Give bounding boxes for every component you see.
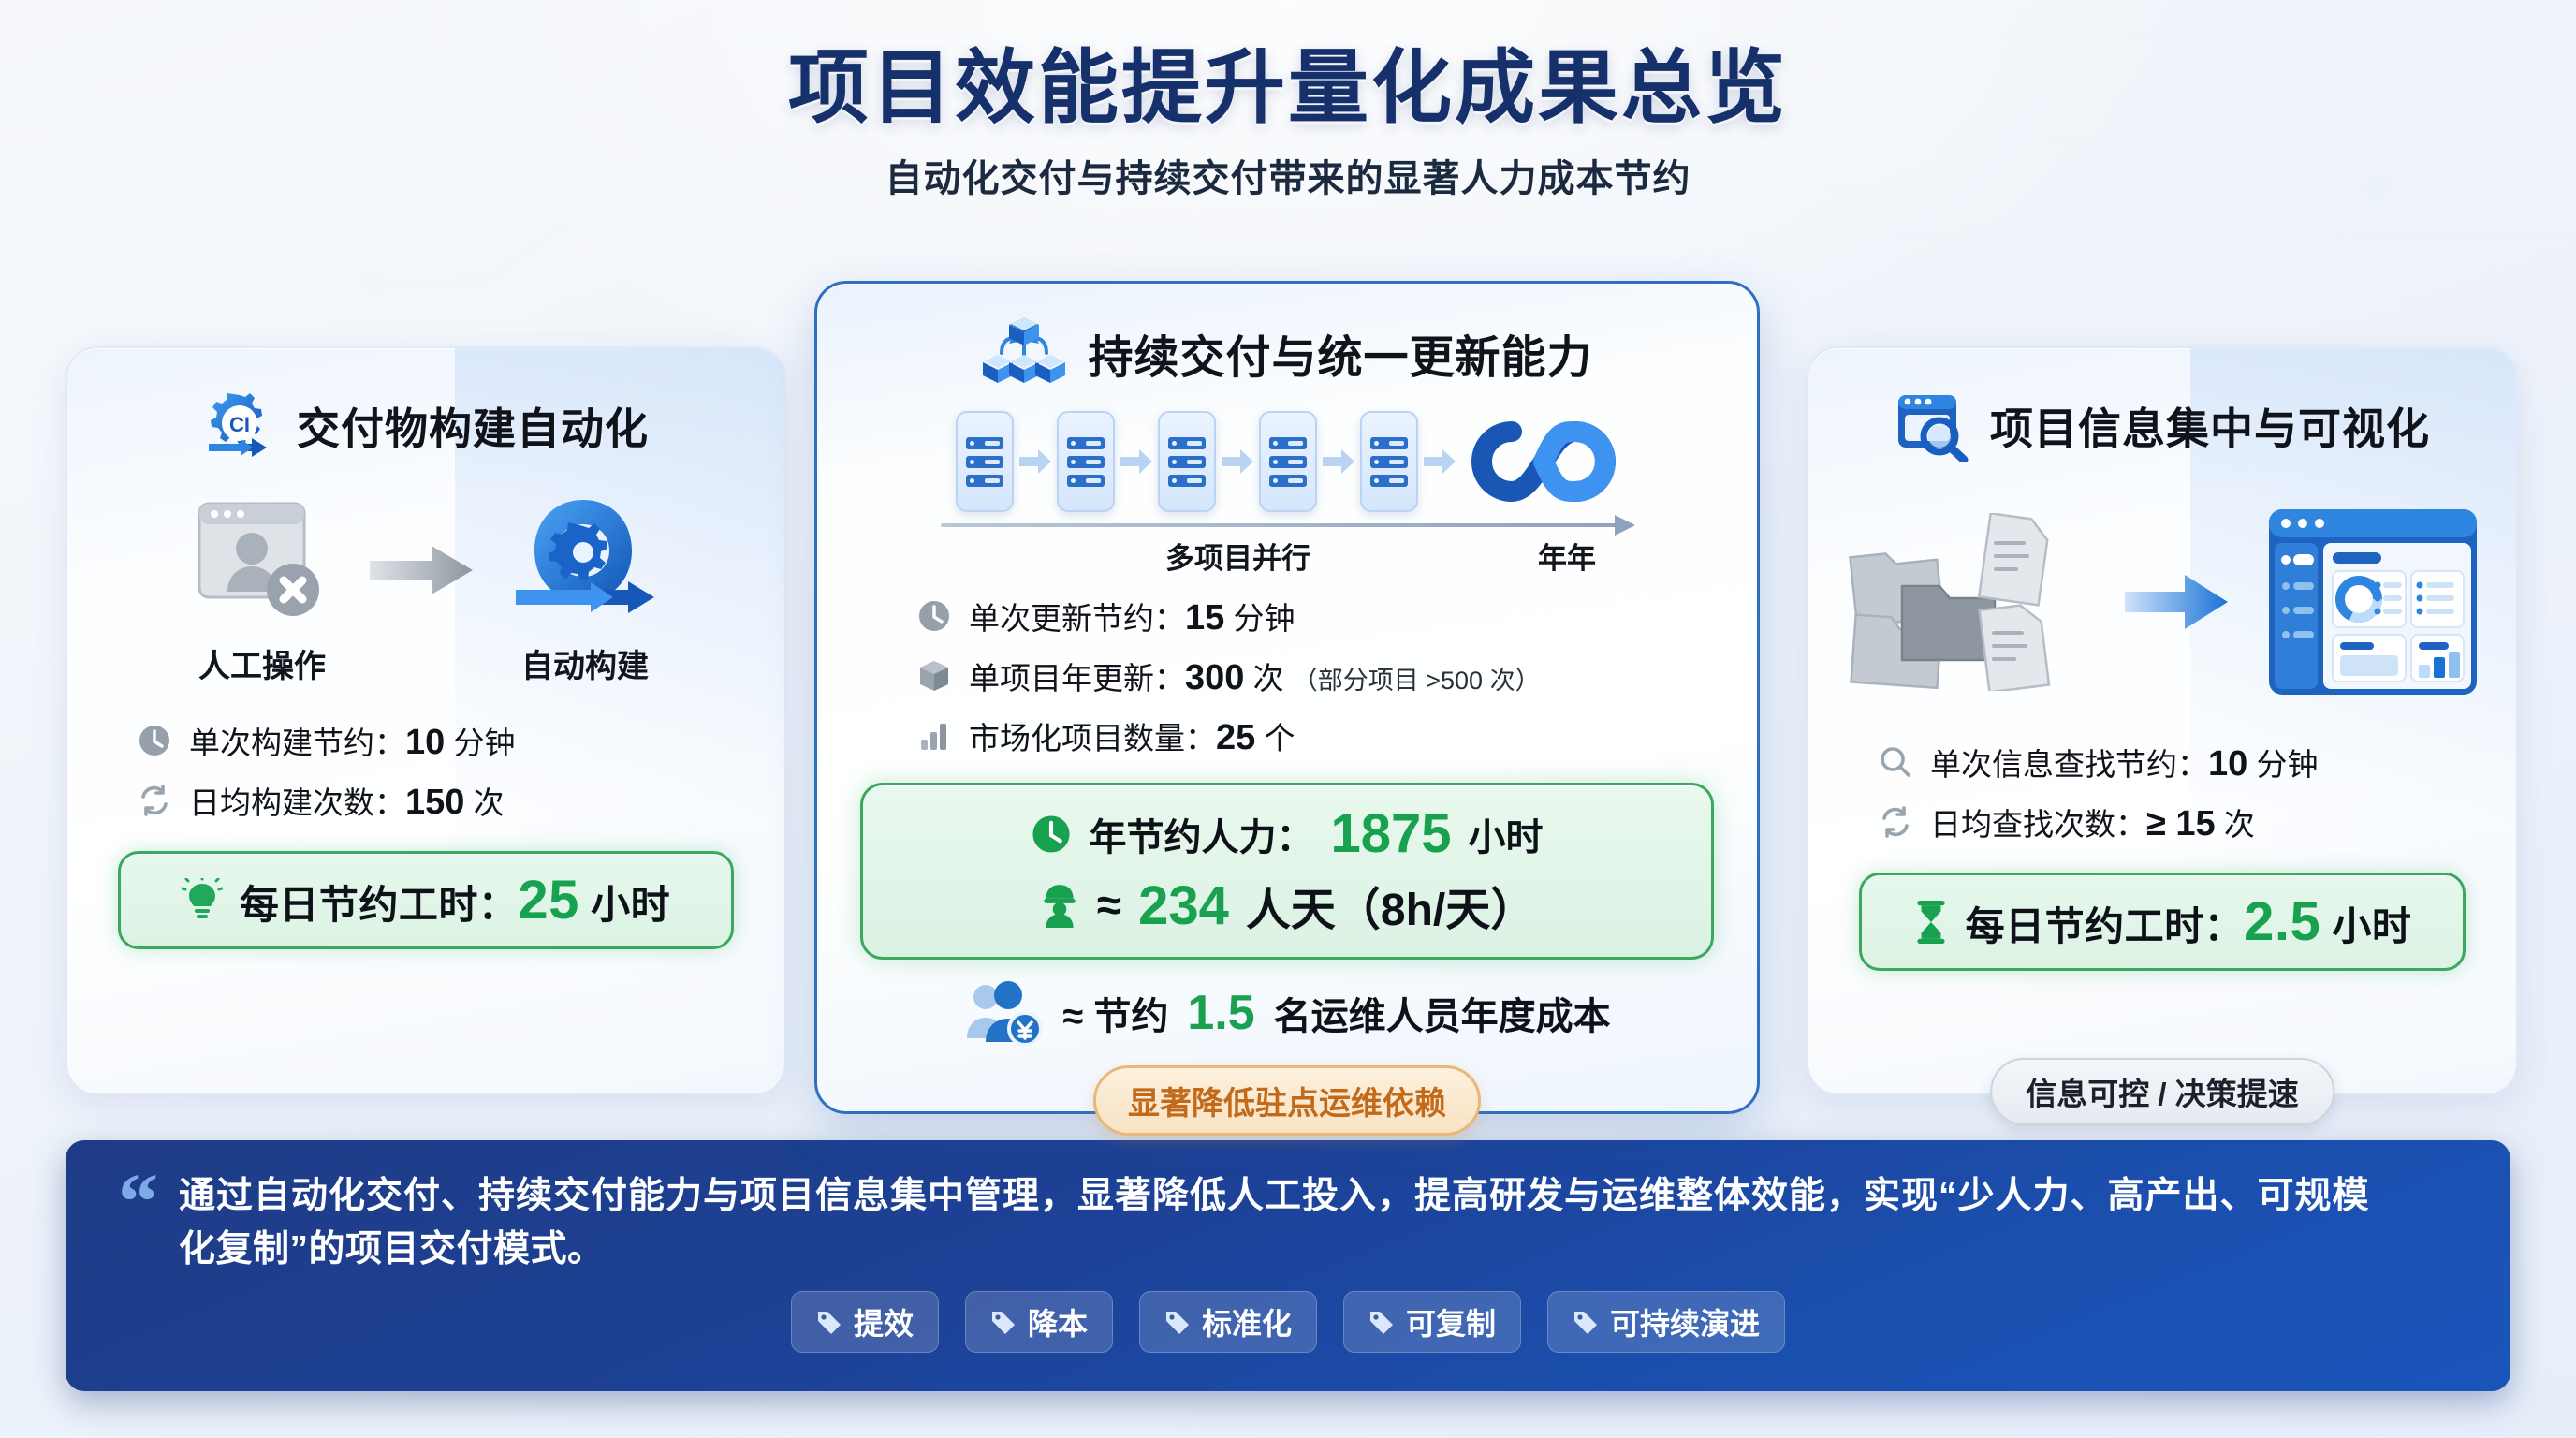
highlight-line-hours: 年节约人力： 1875 小时: [1031, 802, 1543, 865]
metric-text: 单项目年更新：300 次 （部分项目 >500 次）: [969, 653, 1541, 698]
card-right-metrics: 单次信息查找节约：10 分钟 日均查找次数：≥ 15 次: [1808, 740, 2516, 859]
card-left-title: 交付物构建自动化: [297, 395, 649, 457]
tag-label: 可复制: [1406, 1300, 1496, 1343]
page-header: 项目效能提升量化成果总览 自动化交付与持续交付带来的显著人力成本节约: [0, 0, 2576, 202]
card-build-automation[interactable]: CI 交付物构建自动化: [66, 346, 786, 1095]
people-prefix: ≈ 节约: [1062, 986, 1168, 1040]
metric-note: （部分项目 >500 次）: [1293, 667, 1541, 695]
card-right-header: 项目信息集中与可视化: [1895, 389, 2430, 462]
quote-text: 通过自动化交付、持续交付能力与项目信息集中管理，显著降低人工投入，提高研发与运维…: [179, 1170, 2369, 1276]
pipeline-visual: [956, 411, 1618, 512]
card-center-people-line: ≈ 节约 1.5 名运维人员年度成本: [963, 980, 1610, 1046]
card-continuous-delivery[interactable]: 持续交付与统一更新能力: [814, 281, 1760, 1114]
metric-row: 日均构建次数：150 次: [137, 778, 715, 823]
hourglass-icon: [1913, 900, 1949, 945]
timeline-label-left: 多项目并行: [1165, 535, 1310, 577]
timeline-labels: 多项目并行 年年: [941, 535, 1633, 577]
manual-operation-label: 人工操作: [198, 640, 326, 686]
server-node: [1158, 411, 1216, 512]
search-icon: [1878, 744, 1913, 780]
tag-label: 标准化: [1202, 1300, 1292, 1343]
metric-text: 日均构建次数：150 次: [189, 778, 505, 823]
metric-text: 市场化项目数量：25 个: [969, 713, 1295, 758]
card-left-metrics: 单次构建节约：10 分钟 日均构建次数：150 次: [67, 718, 784, 838]
blue-arrow-icon: [2125, 569, 2228, 635]
bulb-icon: [182, 878, 223, 923]
card-left-highlight-text: 每日节约工时：25 小时: [240, 869, 670, 932]
scattered-folders-docs-icon: [1844, 513, 2087, 691]
card-right-highlight-text: 每日节约工时：2.5 小时: [1966, 890, 2412, 953]
refresh-icon: [137, 783, 172, 818]
tag-chip[interactable]: 提效: [791, 1291, 939, 1353]
card-right-visual: [1844, 506, 2481, 698]
card-center-header: 持续交付与统一更新能力: [981, 315, 1592, 390]
server-node: [956, 411, 1014, 512]
dashboard-window-icon: [2265, 506, 2481, 698]
card-left-highlight: 每日节约工时：25 小时: [118, 851, 734, 949]
metric-row: 单次构建节约：10 分钟: [137, 718, 715, 763]
package-icon: [916, 658, 952, 694]
grey-arrow-icon: [370, 542, 473, 598]
pipeline-arrow-icon: [1323, 449, 1354, 474]
ci-gear-icon: CI: [203, 389, 276, 462]
auto-build-block: 自动构建: [510, 494, 660, 686]
metric-row: 单次更新节约：15 分钟: [916, 594, 1658, 638]
card-left-visual: 人工操作: [192, 494, 660, 686]
page-title: 项目效能提升量化成果总览: [0, 43, 2576, 133]
worker-icon: [1039, 883, 1080, 928]
people-value: 1.5: [1187, 985, 1254, 1041]
tag-icon: [1368, 1309, 1395, 1335]
metric-row: 日均查找次数：≥ 15 次: [1878, 800, 2447, 844]
tag-chip[interactable]: 降本: [965, 1291, 1113, 1353]
metric-row: 市场化项目数量：25 个: [916, 713, 1658, 758]
server-node: [1360, 411, 1418, 512]
metric-row: 单次信息查找节约：10 分钟: [1878, 740, 2447, 785]
tag-icon: [1573, 1309, 1599, 1335]
clock-icon: [137, 723, 172, 758]
server-node: [1259, 411, 1317, 512]
infinity-icon: [1469, 411, 1618, 512]
tag-label: 提效: [854, 1300, 914, 1343]
tag-chip[interactable]: 可持续演进: [1547, 1291, 1785, 1353]
highlight-line-persondays: ≈ 234 人天（8h/天）: [1039, 873, 1535, 938]
tag-chip[interactable]: 标准化: [1139, 1291, 1317, 1353]
metric-text: 单次构建节约：10 分钟: [189, 718, 515, 763]
refresh-icon: [1878, 804, 1913, 840]
window-search-icon: [1895, 389, 1969, 462]
summary-banner: “ 通过自动化交付、持续交付能力与项目信息集中管理，显著降低人工投入，提高研发与…: [66, 1140, 2510, 1391]
clock-icon: [1031, 814, 1072, 855]
card-information-visualization[interactable]: 项目信息集中与可视化: [1807, 346, 2518, 1095]
tag-label: 可持续演进: [1610, 1300, 1760, 1343]
card-right-highlight: 每日节约工时：2.5 小时: [1859, 873, 2466, 971]
timeline-line: [941, 523, 1633, 527]
timeline: 多项目并行 年年: [941, 523, 1633, 577]
highlight-value: 1875: [1330, 802, 1451, 865]
card-center-metrics: 单次更新节约：15 分钟 单项目年更新：300 次 （部分项目 >500 次） …: [817, 594, 1757, 773]
bar-chart-icon: [916, 718, 952, 754]
people-suffix: 名运维人员年度成本: [1274, 986, 1611, 1040]
cards-row: CI 交付物构建自动化: [0, 281, 2576, 1114]
pipeline-arrow-icon: [1424, 449, 1456, 474]
quote-block: “ 通过自动化交付、持续交付能力与项目信息集中管理，显著降低人工投入，提高研发与…: [118, 1170, 2458, 1276]
pipeline-arrow-icon: [1019, 449, 1051, 474]
tag-icon: [1164, 1309, 1191, 1335]
server-node: [1057, 411, 1115, 512]
card-center-highlight: 年节约人力： 1875 小时 ≈ 234 人天（8h/天）: [860, 783, 1714, 960]
page-subtitle: 自动化交付与持续交付带来的显著人力成本节约: [0, 148, 2576, 202]
tag-label: 降本: [1028, 1300, 1088, 1343]
metric-text: 日均查找次数：≥ 15 次: [1930, 800, 2255, 844]
nodes-cubes-icon: [981, 315, 1067, 390]
tag-icon: [816, 1309, 842, 1335]
metric-row: 单项目年更新：300 次 （部分项目 >500 次）: [916, 653, 1658, 698]
pipeline-arrow-icon: [1120, 449, 1152, 474]
auto-build-label: 自动构建: [521, 640, 649, 686]
highlight-unit: 人天（8h/天）: [1246, 873, 1535, 938]
timeline-arrowhead-icon: [1615, 515, 1635, 536]
highlight-unit: 小时: [1469, 807, 1544, 861]
tag-chip[interactable]: 可复制: [1343, 1291, 1521, 1353]
card-left-header: CI 交付物构建自动化: [203, 389, 649, 462]
card-center-title: 持续交付与统一更新能力: [1088, 320, 1592, 386]
metric-text: 单次信息查找节约：10 分钟: [1930, 740, 2318, 785]
people-yen-icon: [963, 980, 1044, 1046]
highlight-approx: ≈: [1097, 880, 1121, 932]
tag-list: 提效 降本 标准化 可复制 可持续演进: [118, 1291, 2458, 1353]
tag-icon: [990, 1309, 1017, 1335]
card-right-pill: 信息可控 / 决策提速: [1990, 1058, 2334, 1125]
auto-build-gear-cycle-icon: [510, 494, 660, 625]
metric-text: 单次更新节约：15 分钟: [969, 594, 1295, 638]
highlight-value: 234: [1138, 874, 1229, 937]
clock-icon: [916, 598, 952, 634]
highlight-label: 年节约人力：: [1089, 807, 1313, 861]
timeline-label-right: 年年: [1538, 535, 1596, 577]
manual-user-window-x-icon: [192, 494, 332, 625]
manual-operation-block: 人工操作: [192, 494, 332, 686]
card-right-title: 项目信息集中与可视化: [1990, 395, 2430, 457]
quote-mark-icon: “: [118, 1170, 158, 1233]
card-center-pill: 显著降低驻点运维依赖: [1093, 1065, 1481, 1136]
pipeline-arrow-icon: [1222, 449, 1253, 474]
svg-text:CI: CI: [229, 413, 250, 436]
